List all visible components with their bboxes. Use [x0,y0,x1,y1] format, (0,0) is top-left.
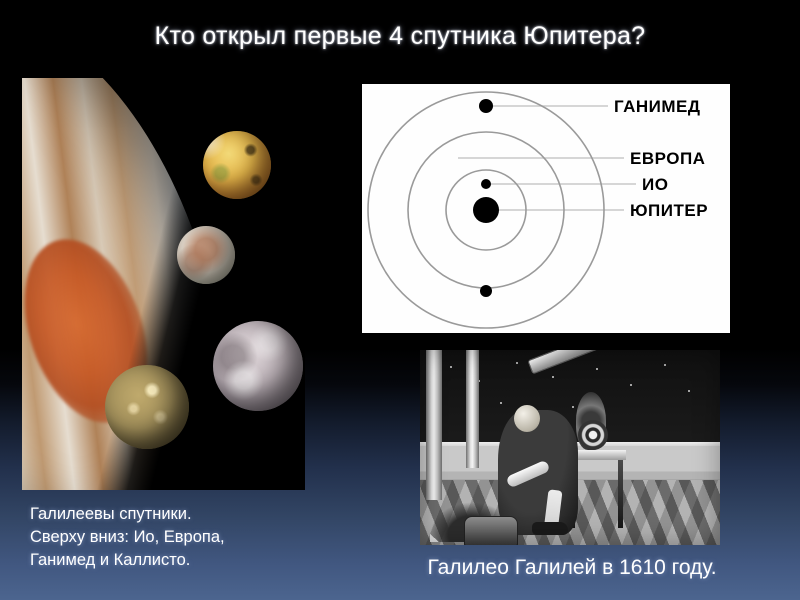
jupiter-orbit-diagram: ГАНИМЕД ЕВРОПА ИО ЮПИТЕР [362,84,730,333]
engraving-galileo-head [514,405,540,432]
diagram-label-jupiter: ЮПИТЕР [630,201,708,220]
diagram-label-io: ИО [642,175,668,194]
diagram-label-europa: ЕВРОПА [630,149,705,168]
engraving-column-inner [466,350,479,468]
galileo-engraving-photo [420,350,720,545]
body-dot-io [481,179,491,189]
engraving-column-left [426,350,442,500]
right-photo-caption: Галилео Галилей в 1610 году. [352,556,792,580]
body-dot-jupiter [473,197,499,223]
engraving-galileo-shoe [532,522,568,535]
caption-left-line-2: Сверху вниз: Ио, Европа, [30,526,340,549]
body-dot-lower [480,285,492,297]
caption-left-line-1: Галилеевы спутники. [30,503,340,526]
diagram-label-ganymede: ГАНИМЕД [614,97,700,116]
caption-left-line-3: Ганимед и Каллисто. [30,549,340,572]
presentation-slide: Кто открыл первые 4 спутника Юпитера? Га… [0,0,800,600]
body-dot-ganymede [479,99,493,113]
moon-europa-graphic [177,226,235,284]
page-title: Кто открыл первые 4 спутника Юпитера? [0,22,800,51]
moon-ganymede-graphic [213,321,303,411]
jupiter-moons-photo [22,78,305,490]
moon-io-graphic [203,131,271,199]
engraving-wooden-chest [464,516,518,545]
engraving-armillary-ornament [578,420,608,450]
moon-callisto-graphic [105,365,189,449]
engraving-table-leg-2 [618,460,623,528]
left-photo-caption: Галилеевы спутники. Сверху вниз: Ио, Евр… [30,503,340,572]
